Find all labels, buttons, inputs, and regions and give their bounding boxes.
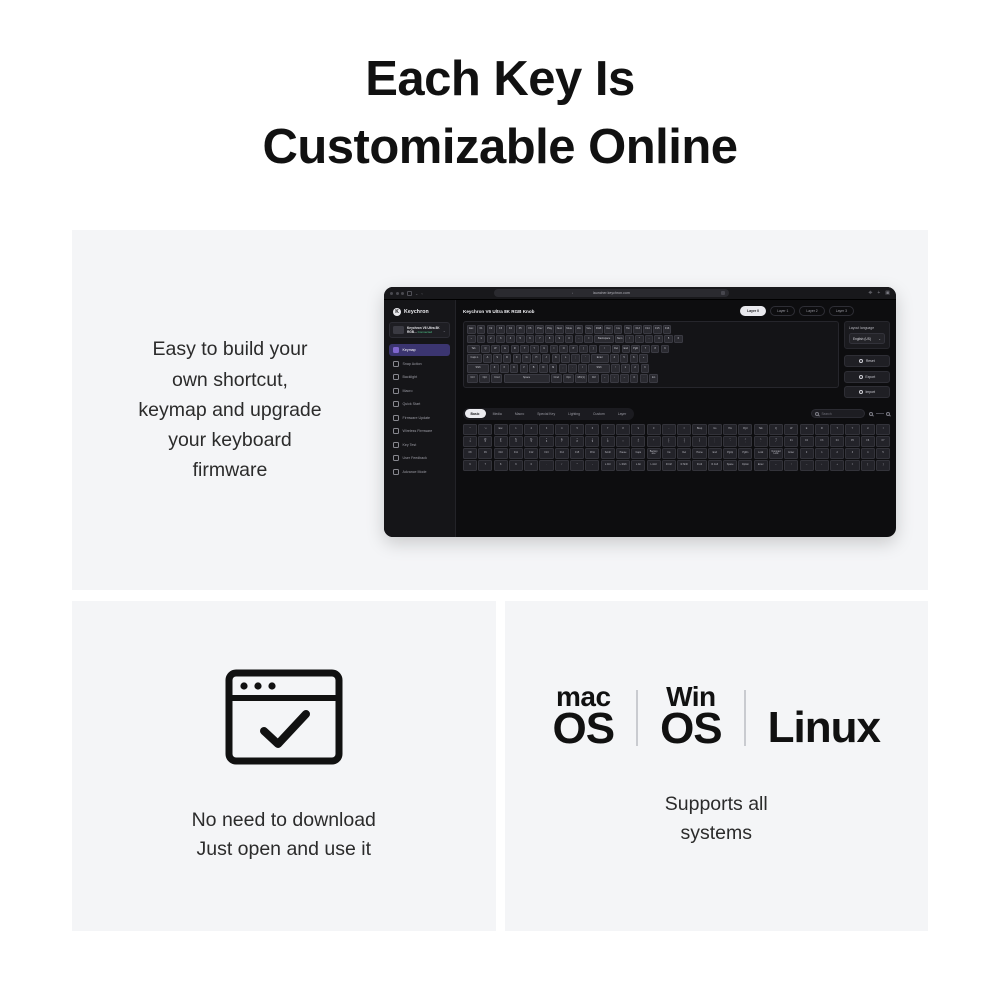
keycode-key[interactable]: F10 bbox=[494, 448, 508, 459]
sidebar-item-label: Firmware Update bbox=[403, 416, 431, 420]
keyboard-key[interactable]: Cmd bbox=[551, 374, 562, 383]
keycode-key[interactable]: < , bbox=[738, 436, 752, 447]
keyboard-key[interactable]: 8 bbox=[651, 345, 660, 354]
keycode-key[interactable]: Del bbox=[677, 448, 691, 459]
keyboard-key[interactable]: F bbox=[513, 354, 522, 363]
keyboard-key[interactable]: 3 bbox=[496, 335, 505, 344]
tab-custom[interactable]: Custom bbox=[587, 409, 611, 418]
keyboard-key[interactable]: 6 bbox=[630, 354, 639, 363]
keyboard-key[interactable]: [ bbox=[579, 345, 588, 354]
import-label: Import bbox=[865, 390, 875, 394]
keycode-key[interactable]: F7 bbox=[876, 436, 890, 447]
keyboard-key[interactable]: = bbox=[584, 335, 593, 344]
keyboard-key[interactable]: - bbox=[645, 335, 654, 344]
import-button[interactable]: Import bbox=[844, 386, 890, 398]
keycode-key[interactable]: 0 bbox=[800, 448, 814, 459]
desc-line-2: own shortcut, bbox=[88, 365, 372, 395]
keyboard-key[interactable]: Hm bbox=[624, 325, 633, 334]
sidebar-item-advance-mode[interactable]: Advance Mode bbox=[389, 466, 450, 478]
keycode-key[interactable]: 9 bbox=[509, 460, 523, 471]
keyboard-key[interactable]: Prev bbox=[535, 325, 544, 334]
keycode-key[interactable]: ? / bbox=[769, 436, 783, 447]
keyboard-key[interactable]: , bbox=[559, 364, 568, 373]
keyboard-key[interactable]: Vol+ bbox=[585, 325, 594, 334]
sidebar-item-backlight[interactable]: Backlight bbox=[389, 371, 450, 383]
keyboard-key[interactable]: F6 bbox=[526, 325, 535, 334]
keycode-key[interactable]: Esc bbox=[494, 424, 508, 435]
keycode-key[interactable]: Enter bbox=[754, 460, 768, 471]
keycode-key[interactable]: 5 bbox=[876, 448, 890, 459]
keyboard-key[interactable]: + bbox=[639, 354, 648, 363]
keycode-key[interactable]: L.GUI bbox=[647, 460, 661, 471]
keycode-key[interactable]: Y bbox=[845, 424, 859, 435]
keycode-key[interactable]: 7 bbox=[601, 424, 615, 435]
keyboard-key[interactable]: H bbox=[532, 354, 541, 363]
sidebar-item-key-test[interactable]: Key Test bbox=[389, 439, 450, 451]
card-launcher-description: Easy to build your own shortcut, keymap … bbox=[72, 334, 372, 485]
window-controls[interactable] bbox=[390, 292, 404, 295]
keyboard-key[interactable]: 7 bbox=[535, 335, 544, 344]
keycode-key[interactable]: 3 bbox=[539, 424, 553, 435]
keycode-key[interactable]: Ins bbox=[708, 424, 722, 435]
zoom-controls[interactable] bbox=[869, 412, 890, 416]
sidebar-item-icon bbox=[393, 388, 399, 394]
reader-icon[interactable] bbox=[721, 291, 725, 295]
sidebar-item-keymap[interactable]: Keymap bbox=[389, 344, 450, 356]
keyboard-key[interactable]: 8 bbox=[545, 335, 554, 344]
macos-big-text: OS bbox=[553, 709, 615, 749]
keyboard-key[interactable]: PgD bbox=[631, 345, 640, 354]
keyboard-key[interactable]: Shift bbox=[588, 364, 610, 373]
tab-media[interactable]: Media bbox=[487, 409, 508, 418]
keychron-mark-icon: K bbox=[393, 308, 401, 316]
keyboard-key[interactable]: 3 bbox=[641, 364, 650, 373]
keycode-key[interactable]: * bbox=[570, 460, 584, 471]
keycode-key[interactable]: F6 bbox=[861, 436, 875, 447]
keycode-key[interactable]: F15 bbox=[570, 448, 584, 459]
keycode-key[interactable]: PgDn bbox=[738, 448, 752, 459]
keyboard-key[interactable]: Del bbox=[604, 325, 613, 334]
keyboard-key[interactable]: F16 bbox=[663, 325, 672, 334]
zoom-in-icon[interactable] bbox=[886, 412, 890, 416]
keyboard-key[interactable]: V bbox=[520, 364, 529, 373]
keyboard-key[interactable]: Enter bbox=[591, 354, 609, 363]
keycode-key[interactable]: R.Shift bbox=[677, 460, 691, 471]
keycode-key[interactable]: Enter bbox=[784, 448, 798, 459]
app-sidebar: K Keychron Keychron V6 Ultra 8K RGB... C… bbox=[384, 300, 456, 537]
card-no-download: No need to download Just open and use it bbox=[72, 601, 496, 931]
keycode-key[interactable]: - bbox=[585, 460, 599, 471]
keyboard-key[interactable]: Backspace bbox=[594, 335, 614, 344]
keycode-key[interactable]: F3 bbox=[815, 436, 829, 447]
keycode-key[interactable]: PgUp bbox=[723, 448, 737, 459]
keycode-key[interactable]: / bbox=[555, 460, 569, 471]
keycode-key[interactable]: > . bbox=[754, 436, 768, 447]
keyboard-key[interactable]: ' bbox=[581, 354, 590, 363]
keycode-key[interactable]: Backsp ace bbox=[647, 448, 661, 459]
keycode-key[interactable]: 7 bbox=[478, 460, 492, 471]
keycode-key[interactable]: @ 2 bbox=[478, 436, 492, 447]
keycode-key[interactable]: 8 bbox=[494, 460, 508, 471]
keycode-key[interactable]: F8 bbox=[463, 448, 477, 459]
keyboard-key[interactable]: N bbox=[539, 364, 548, 373]
keycode-key[interactable]: ( 9 bbox=[585, 436, 599, 447]
sidebar-item-quick-start[interactable]: Quick Start bbox=[389, 398, 450, 410]
close-icon[interactable] bbox=[390, 292, 393, 295]
keyboard-key[interactable]: En bbox=[649, 374, 658, 383]
maximize-icon[interactable] bbox=[401, 292, 404, 295]
keycode-key[interactable]: Option bbox=[738, 460, 752, 471]
keyboard-key[interactable]: G bbox=[522, 354, 531, 363]
keyboard-key[interactable]: W bbox=[491, 345, 500, 354]
keycode-key[interactable]: Scroll bbox=[601, 448, 615, 459]
keyboard-key[interactable]: Cmd bbox=[491, 374, 502, 383]
keycode-key[interactable]: ↑ bbox=[784, 460, 798, 471]
layer-tab-2[interactable]: Layer 2 bbox=[799, 306, 824, 316]
keycode-key[interactable]: : ; bbox=[708, 436, 722, 447]
keycode-key[interactable]: 5 bbox=[570, 424, 584, 435]
keycode-key[interactable]: 3 bbox=[845, 448, 859, 459]
keyboard-key[interactable]: F15 bbox=[653, 325, 662, 334]
keycode-key[interactable]: . bbox=[539, 460, 553, 471]
keycode-grid[interactable]: ⌃⌥Esc1234567890-=BkspInsHmPgUTabQWERTYUI… bbox=[463, 424, 890, 473]
sidebar-item-label: Macro bbox=[403, 389, 413, 393]
keycode-key[interactable]: } ] bbox=[677, 436, 691, 447]
keyboard-key[interactable]: → bbox=[620, 374, 629, 383]
keyboard-key[interactable]: F1 bbox=[477, 325, 486, 334]
keyboard-key[interactable]: ] bbox=[589, 345, 598, 354]
keycode-key[interactable]: F4 bbox=[830, 436, 844, 447]
tab-special-key[interactable]: Special Key bbox=[531, 409, 561, 418]
layer-tab-3[interactable]: Layer 3 bbox=[829, 306, 854, 316]
export-button[interactable]: Export bbox=[844, 371, 890, 383]
sidebar-toggle-icon[interactable] bbox=[407, 291, 412, 296]
layout-language-select[interactable]: English (US) ⌄ bbox=[849, 333, 885, 344]
keyboard-key[interactable]: 5 bbox=[620, 354, 629, 363]
keyboard-key[interactable]: Tab bbox=[467, 345, 480, 354]
keycode-key[interactable]: [ bbox=[861, 460, 875, 471]
keycode-key[interactable]: 0 bbox=[524, 460, 538, 471]
keycode-key[interactable]: Lock bbox=[754, 448, 768, 459]
keyboard-key[interactable]: J bbox=[542, 354, 551, 363]
keycode-key[interactable]: R.Ctrl bbox=[662, 460, 676, 471]
layer-tab-1[interactable]: Layer 1 bbox=[770, 306, 795, 316]
keycode-key[interactable]: ⌥ bbox=[478, 424, 492, 435]
keyboard-key[interactable]: 6 bbox=[674, 335, 683, 344]
minimize-icon[interactable] bbox=[396, 292, 399, 295]
keycode-key[interactable]: 6 bbox=[463, 460, 477, 471]
chevron-down-icon[interactable]: ⌄ bbox=[443, 328, 446, 333]
keycode-key[interactable]: ⌃ bbox=[463, 424, 477, 435]
keyboard-key[interactable]: Next bbox=[555, 325, 564, 334]
tab-layer[interactable]: Layer bbox=[612, 409, 632, 418]
export-icon bbox=[859, 375, 863, 379]
linux-text: Linux bbox=[768, 708, 880, 749]
chevron-down-icon[interactable]: ⌄ bbox=[415, 291, 418, 296]
sidebar-item-user-feedback[interactable]: User Feedback bbox=[389, 452, 450, 464]
keyboard-key[interactable]: A bbox=[483, 354, 492, 363]
keycode-key[interactable]: ] bbox=[876, 460, 890, 471]
keyboard-key[interactable]: ; bbox=[571, 354, 580, 363]
keycode-key[interactable]: 4 bbox=[555, 424, 569, 435]
keycode-key[interactable]: ~ ` bbox=[647, 436, 661, 447]
keycode-key[interactable]: R bbox=[815, 424, 829, 435]
keyboard-key[interactable]: T bbox=[520, 345, 529, 354]
layer-tabs: Layer 0Layer 1Layer 2Layer 3 bbox=[740, 306, 854, 316]
keycode-key[interactable]: L.Shift bbox=[616, 460, 630, 471]
keyboard-key[interactable]: F14 bbox=[643, 325, 652, 334]
keycode-key[interactable]: Pause bbox=[616, 448, 630, 459]
headline-line-1: Each Key Is bbox=[0, 46, 1000, 114]
keyboard-key[interactable]: - bbox=[575, 335, 584, 344]
keycode-key[interactable]: ! 1 bbox=[463, 436, 477, 447]
keyboard-key[interactable]: End bbox=[622, 345, 631, 354]
keyboard-key[interactable]: Ctrl bbox=[467, 374, 478, 383]
desc-line-5: firmware bbox=[88, 455, 372, 485]
keyboard-key[interactable]: Esc bbox=[467, 325, 476, 334]
keycode-key[interactable]: Caps bbox=[631, 448, 645, 459]
keyboard-key[interactable]: / bbox=[578, 364, 587, 373]
keyboard-key[interactable]: 1 bbox=[477, 335, 486, 344]
keyboard-key[interactable]: Shift bbox=[467, 364, 489, 373]
keyboard-key[interactable]: B bbox=[529, 364, 538, 373]
keycode-key[interactable]: Space bbox=[723, 460, 737, 471]
keyboard-key[interactable]: 4 bbox=[610, 354, 619, 363]
keyboard-key[interactable]: ← bbox=[601, 374, 610, 383]
keyboard-key[interactable]: O bbox=[559, 345, 568, 354]
keycode-key[interactable]: L.Alt bbox=[631, 460, 645, 471]
sidebar-item-snap-action[interactable]: Snap Action bbox=[389, 358, 450, 370]
sidebar-item-macro[interactable]: Macro bbox=[389, 385, 450, 397]
keycode-key[interactable]: F5 bbox=[845, 436, 859, 447]
keyboard-key[interactable]: 6 bbox=[526, 335, 535, 344]
keyboard-key[interactable]: 4 bbox=[506, 335, 515, 344]
keyboard-key[interactable]: 4 bbox=[654, 335, 663, 344]
keyboard-key[interactable]: I bbox=[550, 345, 559, 354]
keycode-key[interactable]: Q bbox=[769, 424, 783, 435]
share-icon[interactable]: ⎈ bbox=[868, 290, 872, 296]
keyboard-key[interactable]: 1 bbox=[621, 364, 630, 373]
new-tab-icon[interactable]: + bbox=[877, 290, 880, 296]
keycode-key[interactable]: + = bbox=[631, 436, 645, 447]
sidebar-nav: KeymapSnap ActionBacklightMacroQuick Sta… bbox=[389, 344, 450, 478]
keycode-key[interactable]: Bksp bbox=[692, 424, 706, 435]
keyboard-key[interactable]: F2 bbox=[487, 325, 496, 334]
keyboard-key[interactable]: 9 bbox=[661, 345, 670, 354]
os-logo-row: mac OS Win OS Linux bbox=[553, 684, 880, 750]
device-thumbnail-icon bbox=[393, 326, 404, 334]
keycode-key[interactable]: R.GUI bbox=[708, 460, 722, 471]
keyboard-key[interactable]: Opt bbox=[563, 374, 574, 383]
keycode-key[interactable]: # 3 bbox=[494, 436, 508, 447]
keyboard-key[interactable]: Y bbox=[530, 345, 539, 354]
caption-line-2: Just open and use it bbox=[192, 835, 376, 864]
keyboard-key[interactable]: S bbox=[493, 354, 502, 363]
keycode-key[interactable]: ^ 6 bbox=[539, 436, 553, 447]
keyboard-key[interactable]: X bbox=[500, 364, 509, 373]
tab-basic[interactable]: Basic bbox=[465, 409, 486, 418]
keyboard-key[interactable]: F4 bbox=[506, 325, 515, 334]
keycode-key[interactable]: → bbox=[800, 460, 814, 471]
keyboard-key[interactable]: 7 bbox=[641, 345, 650, 354]
keyboard-key[interactable]: Mute bbox=[565, 325, 574, 334]
device-selector[interactable]: Keychron V6 Ultra 8K RGB... Connected ⌄ bbox=[389, 322, 450, 338]
keyboard-key[interactable]: E bbox=[501, 345, 510, 354]
keycode-key[interactable]: F13 bbox=[539, 448, 553, 459]
keyboard-key[interactable]: Opt bbox=[479, 374, 490, 383]
keycode-key[interactable]: Tab bbox=[754, 424, 768, 435]
keycode-key[interactable]: F1 bbox=[784, 436, 798, 447]
keyboard-key[interactable]: U bbox=[540, 345, 549, 354]
sidebar-item-wireless-firmware[interactable]: Wireless Firmware bbox=[389, 425, 450, 437]
keyboard-key[interactable]: / bbox=[625, 335, 634, 344]
keyboard-key[interactable]: M bbox=[549, 364, 558, 373]
keycode-key[interactable]: U bbox=[861, 424, 875, 435]
keyboard-key[interactable]: Num bbox=[615, 335, 624, 344]
keyboard-key[interactable]: Play bbox=[545, 325, 554, 334]
keyboard-key[interactable]: Q bbox=[481, 345, 490, 354]
headline-line-2: Customizable Online bbox=[0, 114, 1000, 182]
keycode-key[interactable]: & 7 bbox=[555, 436, 569, 447]
url-bar[interactable]: • launcher.keychron.com bbox=[494, 289, 729, 297]
keycode-key[interactable]: T bbox=[830, 424, 844, 435]
keycode-key[interactable]: 4 bbox=[861, 448, 875, 459]
keycode-key[interactable]: 1 bbox=[509, 424, 523, 435]
keycode-key[interactable]: R.Alt bbox=[692, 460, 706, 471]
keyboard-key[interactable]: 0 bbox=[565, 335, 574, 344]
keyboard-key[interactable]: Del bbox=[612, 345, 621, 354]
keycode-key[interactable]: { [ bbox=[662, 436, 676, 447]
keycode-key[interactable]: 6 bbox=[585, 424, 599, 435]
keyboard-key[interactable]: Space bbox=[504, 374, 550, 383]
keycode-key[interactable]: + bbox=[830, 460, 844, 471]
keycode-key[interactable]: Numpad Lock bbox=[769, 448, 783, 459]
keyboard-key[interactable]: Ins bbox=[614, 325, 623, 334]
keyboard-key[interactable]: . bbox=[568, 364, 577, 373]
keycode-key[interactable]: = bbox=[845, 460, 859, 471]
keycode-key[interactable]: 9 bbox=[631, 424, 645, 435]
keycode-key[interactable]: $ 4 bbox=[509, 436, 523, 447]
keyboard-key[interactable]: P bbox=[569, 345, 578, 354]
keycode-key[interactable]: 0 bbox=[647, 424, 661, 435]
device-info: Keychron V6 Ultra 8K RGB... Connected bbox=[407, 326, 440, 334]
keyboard-key[interactable]: . bbox=[640, 374, 649, 383]
keycode-key[interactable]: = bbox=[677, 424, 691, 435]
keycode-key[interactable]: ↓ bbox=[815, 460, 829, 471]
sidebar-item-icon bbox=[393, 415, 399, 421]
keyboard-key[interactable]: F5 bbox=[516, 325, 525, 334]
keyboard-key[interactable]: R bbox=[511, 345, 520, 354]
keyboard-key[interactable]: Vol- bbox=[575, 325, 584, 334]
tabs-overview-icon[interactable]: ▣ bbox=[885, 290, 890, 296]
keyboard-key[interactable]: F3 bbox=[496, 325, 505, 334]
keyboard-key[interactable]: 0 bbox=[630, 374, 639, 383]
keycode-key[interactable]: " ' bbox=[723, 436, 737, 447]
sidebar-item-label: Wireless Firmware bbox=[403, 429, 433, 433]
keycode-key[interactable]: W bbox=[784, 424, 798, 435]
keycode-key[interactable]: I bbox=[876, 424, 890, 435]
sidebar-item-firmware-update[interactable]: Firmware Update bbox=[389, 412, 450, 424]
keycode-key[interactable]: L.Ctrl bbox=[601, 460, 615, 471]
keyboard-key[interactable]: RGB bbox=[594, 325, 603, 334]
keyboard-key[interactable]: 9 bbox=[555, 335, 564, 344]
keyboard-key[interactable]: MO(1) bbox=[575, 374, 587, 383]
keycode-key[interactable]: Hm bbox=[723, 424, 737, 435]
keycode-key[interactable]: | \ bbox=[692, 436, 706, 447]
keyboard-key[interactable]: 5 bbox=[516, 335, 525, 344]
keyboard-key[interactable]: D bbox=[503, 354, 512, 363]
keycode-key[interactable]: * 8 bbox=[570, 436, 584, 447]
browser-window-check-icon bbox=[224, 668, 344, 766]
url-text: launcher.keychron.com bbox=[593, 291, 630, 295]
keyboard-key[interactable]: 2 bbox=[631, 364, 640, 373]
keycode-key[interactable]: F11 bbox=[509, 448, 523, 459]
keycode-key[interactable]: 2 bbox=[830, 448, 844, 459]
sidebar-item-icon bbox=[393, 428, 399, 434]
keyboard-key[interactable]: ↓ bbox=[610, 374, 619, 383]
keyboard-key[interactable]: Caps L bbox=[467, 354, 482, 363]
keycode-key[interactable]: E bbox=[800, 424, 814, 435]
keyboard-key[interactable]: \ bbox=[599, 345, 611, 354]
keyboard-row: CtrlOptCmdSpaceCmdOptMO(1)Ctrl←↓→0.En bbox=[467, 374, 835, 383]
keyboard-key[interactable]: L bbox=[561, 354, 570, 363]
zoom-out-icon[interactable] bbox=[869, 412, 873, 416]
keycode-key[interactable]: 8 bbox=[616, 424, 630, 435]
tab-macro[interactable]: Macro bbox=[509, 409, 530, 418]
keycode-key[interactable]: 1 bbox=[815, 448, 829, 459]
keyboard-key[interactable]: ~ bbox=[467, 335, 476, 344]
back-arrow-icon[interactable]: ‹ bbox=[421, 291, 422, 296]
chevron-down-icon: ⌄ bbox=[878, 337, 881, 341]
keyboard-key[interactable]: 2 bbox=[487, 335, 496, 344]
keyboard-key[interactable]: C bbox=[510, 364, 519, 373]
keycode-key[interactable]: F2 bbox=[800, 436, 814, 447]
keycode-row: ⌃⌥Esc1234567890-=BkspInsHmPgUTabQWERTYUI bbox=[463, 424, 890, 435]
keyboard-key[interactable]: K bbox=[552, 354, 561, 363]
keyboard-key[interactable]: ↑ bbox=[611, 364, 620, 373]
sidebar-item-label: Key Test bbox=[403, 443, 417, 447]
keycode-row: F8F9F10F11F12F13F14F15PrintScrollPauseCa… bbox=[463, 448, 890, 459]
keyboard-key[interactable]: 5 bbox=[664, 335, 673, 344]
reset-button[interactable]: Reset bbox=[844, 355, 890, 367]
keycode-key[interactable]: Print bbox=[585, 448, 599, 459]
layer-tab-0[interactable]: Layer 0 bbox=[740, 306, 766, 316]
keycode-key[interactable]: PgU bbox=[738, 424, 752, 435]
keyboard-key[interactable]: * bbox=[635, 335, 644, 344]
keyboard-key[interactable]: F13 bbox=[633, 325, 642, 334]
keycode-key[interactable]: ) 0 bbox=[601, 436, 615, 447]
keyboard-key[interactable]: Z bbox=[490, 364, 499, 373]
keycode-key[interactable]: - bbox=[662, 424, 676, 435]
keycode-key[interactable]: F12 bbox=[524, 448, 538, 459]
zoom-slider[interactable] bbox=[876, 413, 884, 414]
tab-lighting[interactable]: Lighting bbox=[562, 409, 586, 418]
keycode-key[interactable]: End bbox=[708, 448, 722, 459]
keycode-key[interactable]: F14 bbox=[555, 448, 569, 459]
keycode-key[interactable]: _ - bbox=[616, 436, 630, 447]
keycode-key[interactable]: ← bbox=[769, 460, 783, 471]
keyboard-row: EscF1F2F3F4F5F6PrevPlayNextMuteVol-Vol+R… bbox=[467, 325, 835, 334]
keycode-key[interactable]: F9 bbox=[478, 448, 492, 459]
keycode-key[interactable]: % 5 bbox=[524, 436, 538, 447]
keyboard-key[interactable]: Ctrl bbox=[588, 374, 599, 383]
keycode-key[interactable]: 2 bbox=[524, 424, 538, 435]
keycode-key[interactable]: Ins bbox=[662, 448, 676, 459]
launcher-app-screenshot: ⌄ ‹ • launcher.keychron.com ⎈ + ▣ K bbox=[384, 287, 896, 537]
keycode-key[interactable]: Home bbox=[692, 448, 706, 459]
keyboard-preview[interactable]: EscF1F2F3F4F5F6PrevPlayNextMuteVol-Vol+R… bbox=[463, 321, 839, 388]
search-input[interactable]: Search bbox=[811, 409, 865, 418]
